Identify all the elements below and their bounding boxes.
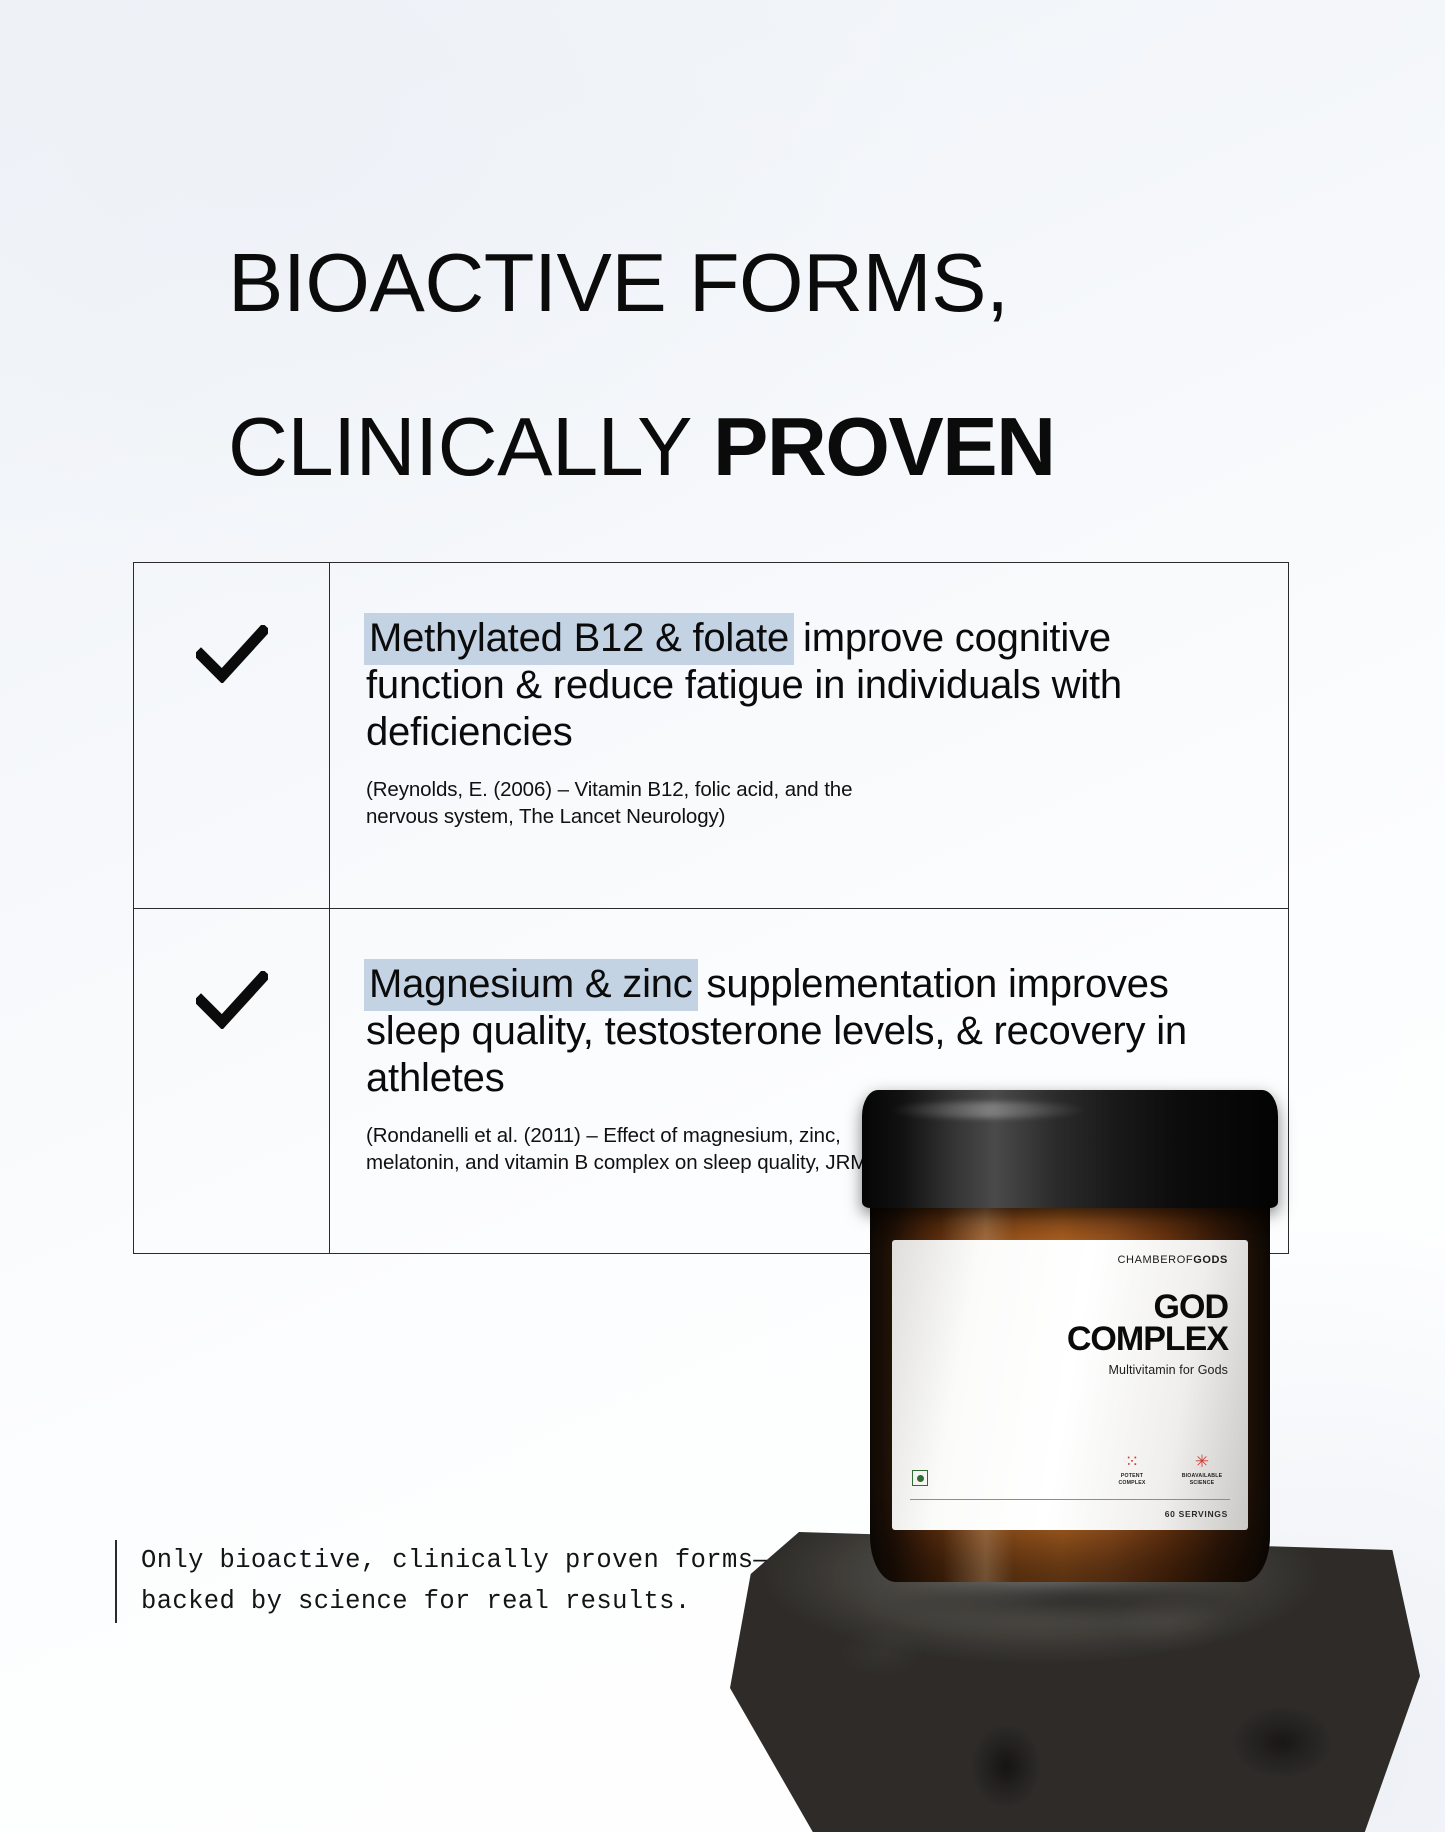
- badge-caption: POTENT COMPLEX: [1106, 1473, 1158, 1486]
- badge-caption: BIOAVAILABLE SCIENCE: [1176, 1473, 1228, 1486]
- table-row: Methylated B12 & folate improve cognitiv…: [134, 563, 1288, 908]
- label-badges: ⁙ POTENT COMPLEX ✳ BIOAVAILABLE SCIENCE: [912, 1451, 1228, 1486]
- claim-highlight: Methylated B12 & folate: [364, 613, 794, 665]
- claims-table: Methylated B12 & folate improve cognitiv…: [133, 562, 1289, 1254]
- footer-note: Only bioactive, clinically proven forms—…: [115, 1540, 769, 1623]
- jar-label: CHAMBEROFGODS GOD COMPLEX Multivitamin f…: [892, 1240, 1248, 1530]
- claim-citation: (Rondanelli et al. (2011) – Effect of ma…: [366, 1123, 1226, 1175]
- claim-body: Magnesium & zinc supplementation improve…: [330, 909, 1288, 1253]
- badge-group: ⁙ POTENT COMPLEX ✳ BIOAVAILABLE SCIENCE: [1106, 1451, 1228, 1486]
- claim-body: Methylated B12 & folate improve cognitiv…: [330, 563, 1288, 908]
- potency-icon: ⁙: [1106, 1451, 1158, 1471]
- claim-highlight: Magnesium & zinc: [364, 959, 698, 1011]
- table-row: Magnesium & zinc supplementation improve…: [134, 908, 1288, 1253]
- claim-citation: (Reynolds, E. (2006) – Vitamin B12, foli…: [366, 777, 1226, 829]
- product-name-line-2: COMPLEX: [912, 1324, 1228, 1356]
- badge: ⁙ POTENT COMPLEX: [1106, 1451, 1158, 1486]
- science-burst-icon: ✳: [1176, 1451, 1228, 1471]
- headline-line-2-regular: CLINICALLY: [228, 400, 713, 493]
- jar-contact-shadow: [880, 1576, 1260, 1622]
- claim-statement: Methylated B12 & folate improve cognitiv…: [366, 615, 1226, 755]
- headline-line-2: CLINICALLY PROVEN: [228, 406, 1228, 488]
- headline-emphasis: PROVEN: [713, 400, 1055, 493]
- brand-suffix: GODS: [1193, 1254, 1228, 1266]
- check-icon: [196, 971, 268, 1029]
- check-cell: [134, 909, 330, 1253]
- brand-wordmark: CHAMBEROFGODS: [912, 1254, 1228, 1266]
- headline-line-1: BIOACTIVE FORMS,: [228, 242, 1228, 324]
- page-title: BIOACTIVE FORMS, CLINICALLY PROVEN: [228, 160, 1228, 571]
- label-divider: [910, 1499, 1230, 1500]
- claim-statement: Magnesium & zinc supplementation improve…: [366, 961, 1226, 1101]
- product-tagline: Multivitamin for Gods: [912, 1363, 1228, 1377]
- product-name: GOD COMPLEX: [912, 1292, 1228, 1356]
- product-name-line-1: GOD: [912, 1292, 1228, 1324]
- badge: ✳ BIOAVAILABLE SCIENCE: [1176, 1451, 1228, 1486]
- vegetarian-mark-icon: [912, 1470, 928, 1486]
- check-cell: [134, 563, 330, 908]
- poster-canvas: BIOACTIVE FORMS, CLINICALLY PROVEN Methy…: [0, 0, 1445, 1832]
- brand-prefix: CHAMBEROF: [1118, 1254, 1194, 1266]
- check-icon: [196, 625, 268, 683]
- stone-plinth: [730, 1532, 1420, 1832]
- servings-count: 60 SERVINGS: [1165, 1509, 1228, 1519]
